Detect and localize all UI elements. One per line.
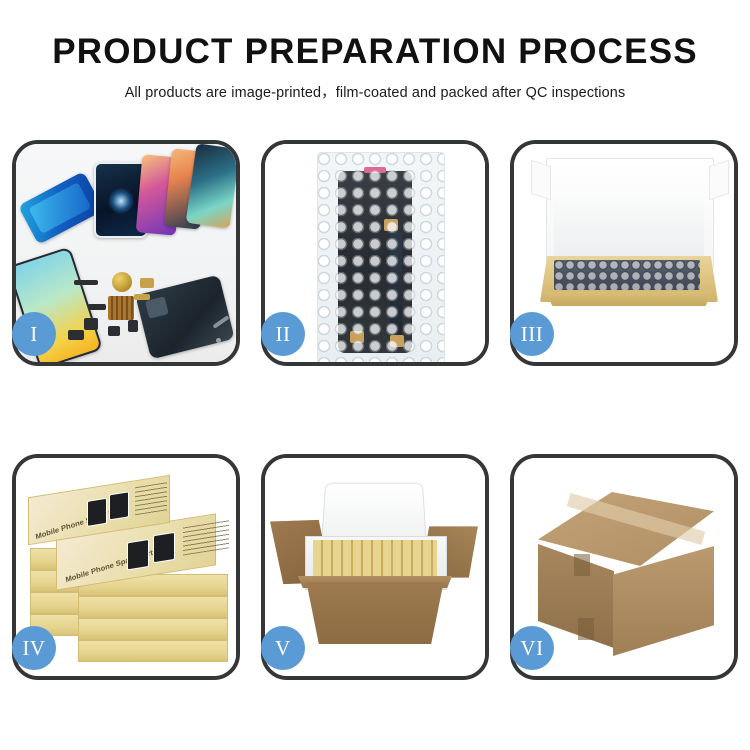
box-chip-left-1 (87, 498, 107, 527)
box-spec-lines-left (135, 482, 167, 515)
bubble-wrap-bag (317, 152, 445, 362)
process-step-1: I (12, 140, 240, 366)
speaker-part (74, 280, 98, 285)
lcd-flex-cable (390, 231, 402, 341)
box-chip-right-2 (153, 532, 175, 563)
box-stack-right-5 (78, 640, 228, 662)
screw-part (216, 338, 221, 343)
carton-tab-upper (574, 554, 590, 576)
page-header: PRODUCT PREPARATION PROCESS All products… (0, 0, 750, 102)
step-5-badge: V (261, 626, 305, 670)
bubble-wrapped-contents (554, 260, 700, 290)
flex-connector-right (390, 335, 404, 347)
box-spec-lines-right (183, 520, 229, 555)
box-stack-right-4 (78, 618, 228, 640)
box-chip-right-1 (127, 539, 149, 570)
sim-tray-part (128, 320, 138, 332)
flex-connector-top (384, 219, 398, 231)
wrapped-lcd-screen (338, 171, 412, 353)
ribbon-part (134, 294, 150, 300)
step-3-badge: III (510, 312, 554, 356)
antenna-part (88, 304, 106, 310)
process-step-3: III (510, 140, 738, 366)
box-stack-right-3 (78, 596, 228, 618)
connector-chip-part (108, 296, 134, 320)
process-step-4: Mobile Phone Spare Parts Mobile Phone Sp… (12, 454, 240, 680)
blue-adhesive-frame (18, 171, 104, 245)
kraft-box-front-edge (542, 292, 716, 306)
vibrator-part (112, 272, 132, 292)
step-2-badge: II (261, 312, 305, 356)
box-chip-left-2 (109, 491, 129, 520)
flex-connector-left (350, 331, 364, 343)
carton-tab-lower (578, 618, 594, 640)
white-foam-sheet (554, 196, 704, 264)
carton-body (297, 582, 453, 644)
process-step-grid: I II (0, 140, 750, 680)
step-4-badge: IV (12, 626, 56, 670)
flex-cable-part (140, 278, 154, 288)
battery-connector-part (68, 330, 84, 340)
step-6-badge: VI (510, 626, 554, 670)
camera-part (84, 318, 98, 330)
process-step-6: VI (510, 454, 738, 680)
process-step-5: V (261, 454, 489, 680)
step-1-badge: I (12, 312, 56, 356)
page-subtitle: All products are image-printed，film-coat… (0, 81, 750, 102)
process-step-2: II (261, 140, 489, 366)
button-part (108, 326, 120, 336)
page-title: PRODUCT PREPARATION PROCESS (0, 34, 750, 69)
